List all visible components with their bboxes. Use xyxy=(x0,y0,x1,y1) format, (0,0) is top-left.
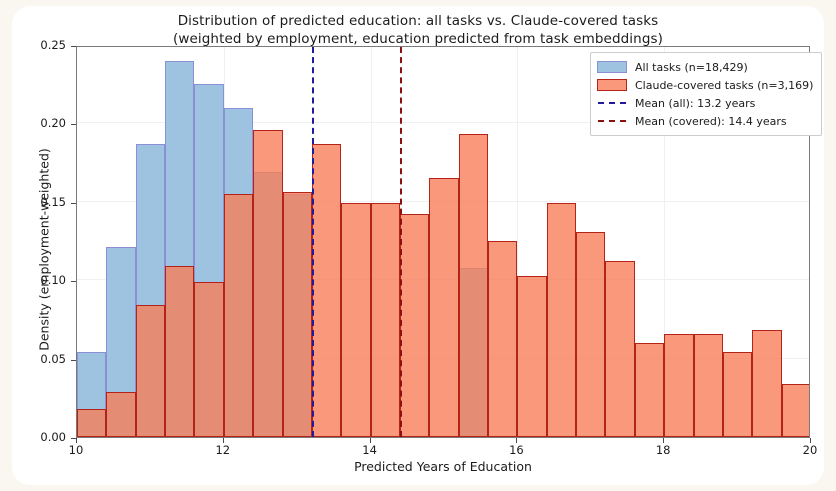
histogram-bar-covered-tasks xyxy=(576,232,605,437)
legend-label-mean-covered: Mean (covered): 14.4 years xyxy=(635,115,787,128)
histogram-bar-covered-tasks xyxy=(429,178,458,437)
histogram-bar-covered-tasks xyxy=(371,203,400,437)
y-axis-tick-label: 0.00 xyxy=(4,430,66,444)
x-axis-tick-label: 20 xyxy=(790,443,830,457)
legend-swatch-covered-tasks xyxy=(597,79,627,91)
histogram-bar-covered-tasks xyxy=(723,352,752,437)
legend-item-covered-tasks: Claude-covered tasks (n=3,169) xyxy=(597,76,813,94)
histogram-bar-covered-tasks xyxy=(752,330,781,437)
y-axis-label: Density (employment-weighted) xyxy=(37,54,52,446)
histogram-bar-covered-tasks xyxy=(106,392,135,437)
histogram-bar-covered-tasks xyxy=(459,134,488,437)
x-axis-tick-mark xyxy=(370,438,371,443)
histogram-bar-covered-tasks xyxy=(547,203,576,437)
legend-label-all-tasks: All tasks (n=18,429) xyxy=(635,61,748,74)
histogram-bar-covered-tasks xyxy=(136,305,165,437)
histogram-bar-covered-tasks xyxy=(488,241,517,437)
x-axis-tick-mark xyxy=(76,438,77,443)
x-axis-tick-label: 18 xyxy=(643,443,683,457)
y-axis-tick-label: 0.10 xyxy=(4,273,66,287)
x-axis-tick-mark xyxy=(663,438,664,443)
x-axis-label: Predicted Years of Education xyxy=(76,459,810,474)
y-axis-tick-label: 0.15 xyxy=(4,195,66,209)
y-axis-tick-label: 0.05 xyxy=(4,352,66,366)
histogram-bar-covered-tasks xyxy=(77,409,106,437)
histogram-bar-covered-tasks xyxy=(165,266,194,437)
legend-swatch-all-tasks xyxy=(597,61,627,73)
mean-covered-line xyxy=(400,47,402,437)
y-axis-tick-label: 0.20 xyxy=(4,116,66,130)
x-axis-tick-mark xyxy=(516,438,517,443)
legend-item-mean-covered: Mean (covered): 14.4 years xyxy=(597,112,813,130)
histogram-bar-covered-tasks xyxy=(517,276,546,438)
x-axis-tick-label: 10 xyxy=(56,443,96,457)
histogram-bar-covered-tasks xyxy=(283,192,312,437)
legend-label-covered-tasks: Claude-covered tasks (n=3,169) xyxy=(635,79,813,92)
legend-dashline-mean-covered xyxy=(597,115,627,127)
histogram-bar-covered-tasks xyxy=(194,282,223,437)
histogram-bar-covered-tasks xyxy=(664,334,693,437)
histogram-bar-covered-tasks xyxy=(694,334,723,437)
legend-item-mean-all: Mean (all): 13.2 years xyxy=(597,94,813,112)
histogram-bar-covered-tasks xyxy=(312,144,341,437)
legend-item-all-tasks: All tasks (n=18,429) xyxy=(597,58,813,76)
x-axis-tick-label: 14 xyxy=(350,443,390,457)
mean-all-line xyxy=(312,47,314,437)
histogram-bar-covered-tasks xyxy=(224,194,253,437)
chart-title-line1: Distribution of predicted education: all… xyxy=(178,13,659,29)
chart-title: Distribution of predicted education: all… xyxy=(0,12,836,48)
legend-dashline-mean-all xyxy=(597,97,627,109)
x-axis-tick-mark xyxy=(223,438,224,443)
histogram-bar-covered-tasks xyxy=(782,384,810,437)
histogram-bar-covered-tasks xyxy=(635,343,664,437)
x-axis-tick-label: 12 xyxy=(203,443,243,457)
chart-legend: All tasks (n=18,429) Claude-covered task… xyxy=(590,52,822,136)
legend-label-mean-all: Mean (all): 13.2 years xyxy=(635,97,755,110)
y-axis-tick-label: 0.25 xyxy=(4,38,66,52)
histogram-figure: Distribution of predicted education: all… xyxy=(0,0,836,491)
histogram-bar-covered-tasks xyxy=(253,130,282,437)
histogram-bar-covered-tasks xyxy=(400,214,429,437)
x-axis-tick-label: 16 xyxy=(496,443,536,457)
x-axis-tick-mark xyxy=(810,438,811,443)
histogram-bar-covered-tasks xyxy=(341,203,370,437)
histogram-bar-covered-tasks xyxy=(605,261,634,437)
